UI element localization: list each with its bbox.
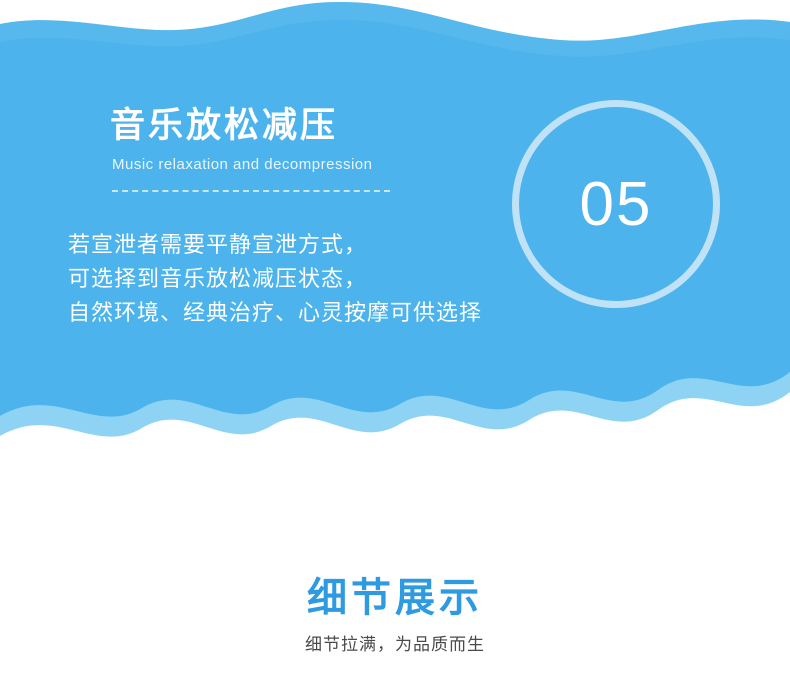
section-title: 细节展示 — [0, 565, 790, 623]
detail-section: 细节展示 细节拉满，为品质而生 — [0, 470, 790, 677]
section-number: 05 — [512, 100, 720, 308]
section-subtitle: 细节拉满，为品质而生 — [0, 630, 790, 655]
